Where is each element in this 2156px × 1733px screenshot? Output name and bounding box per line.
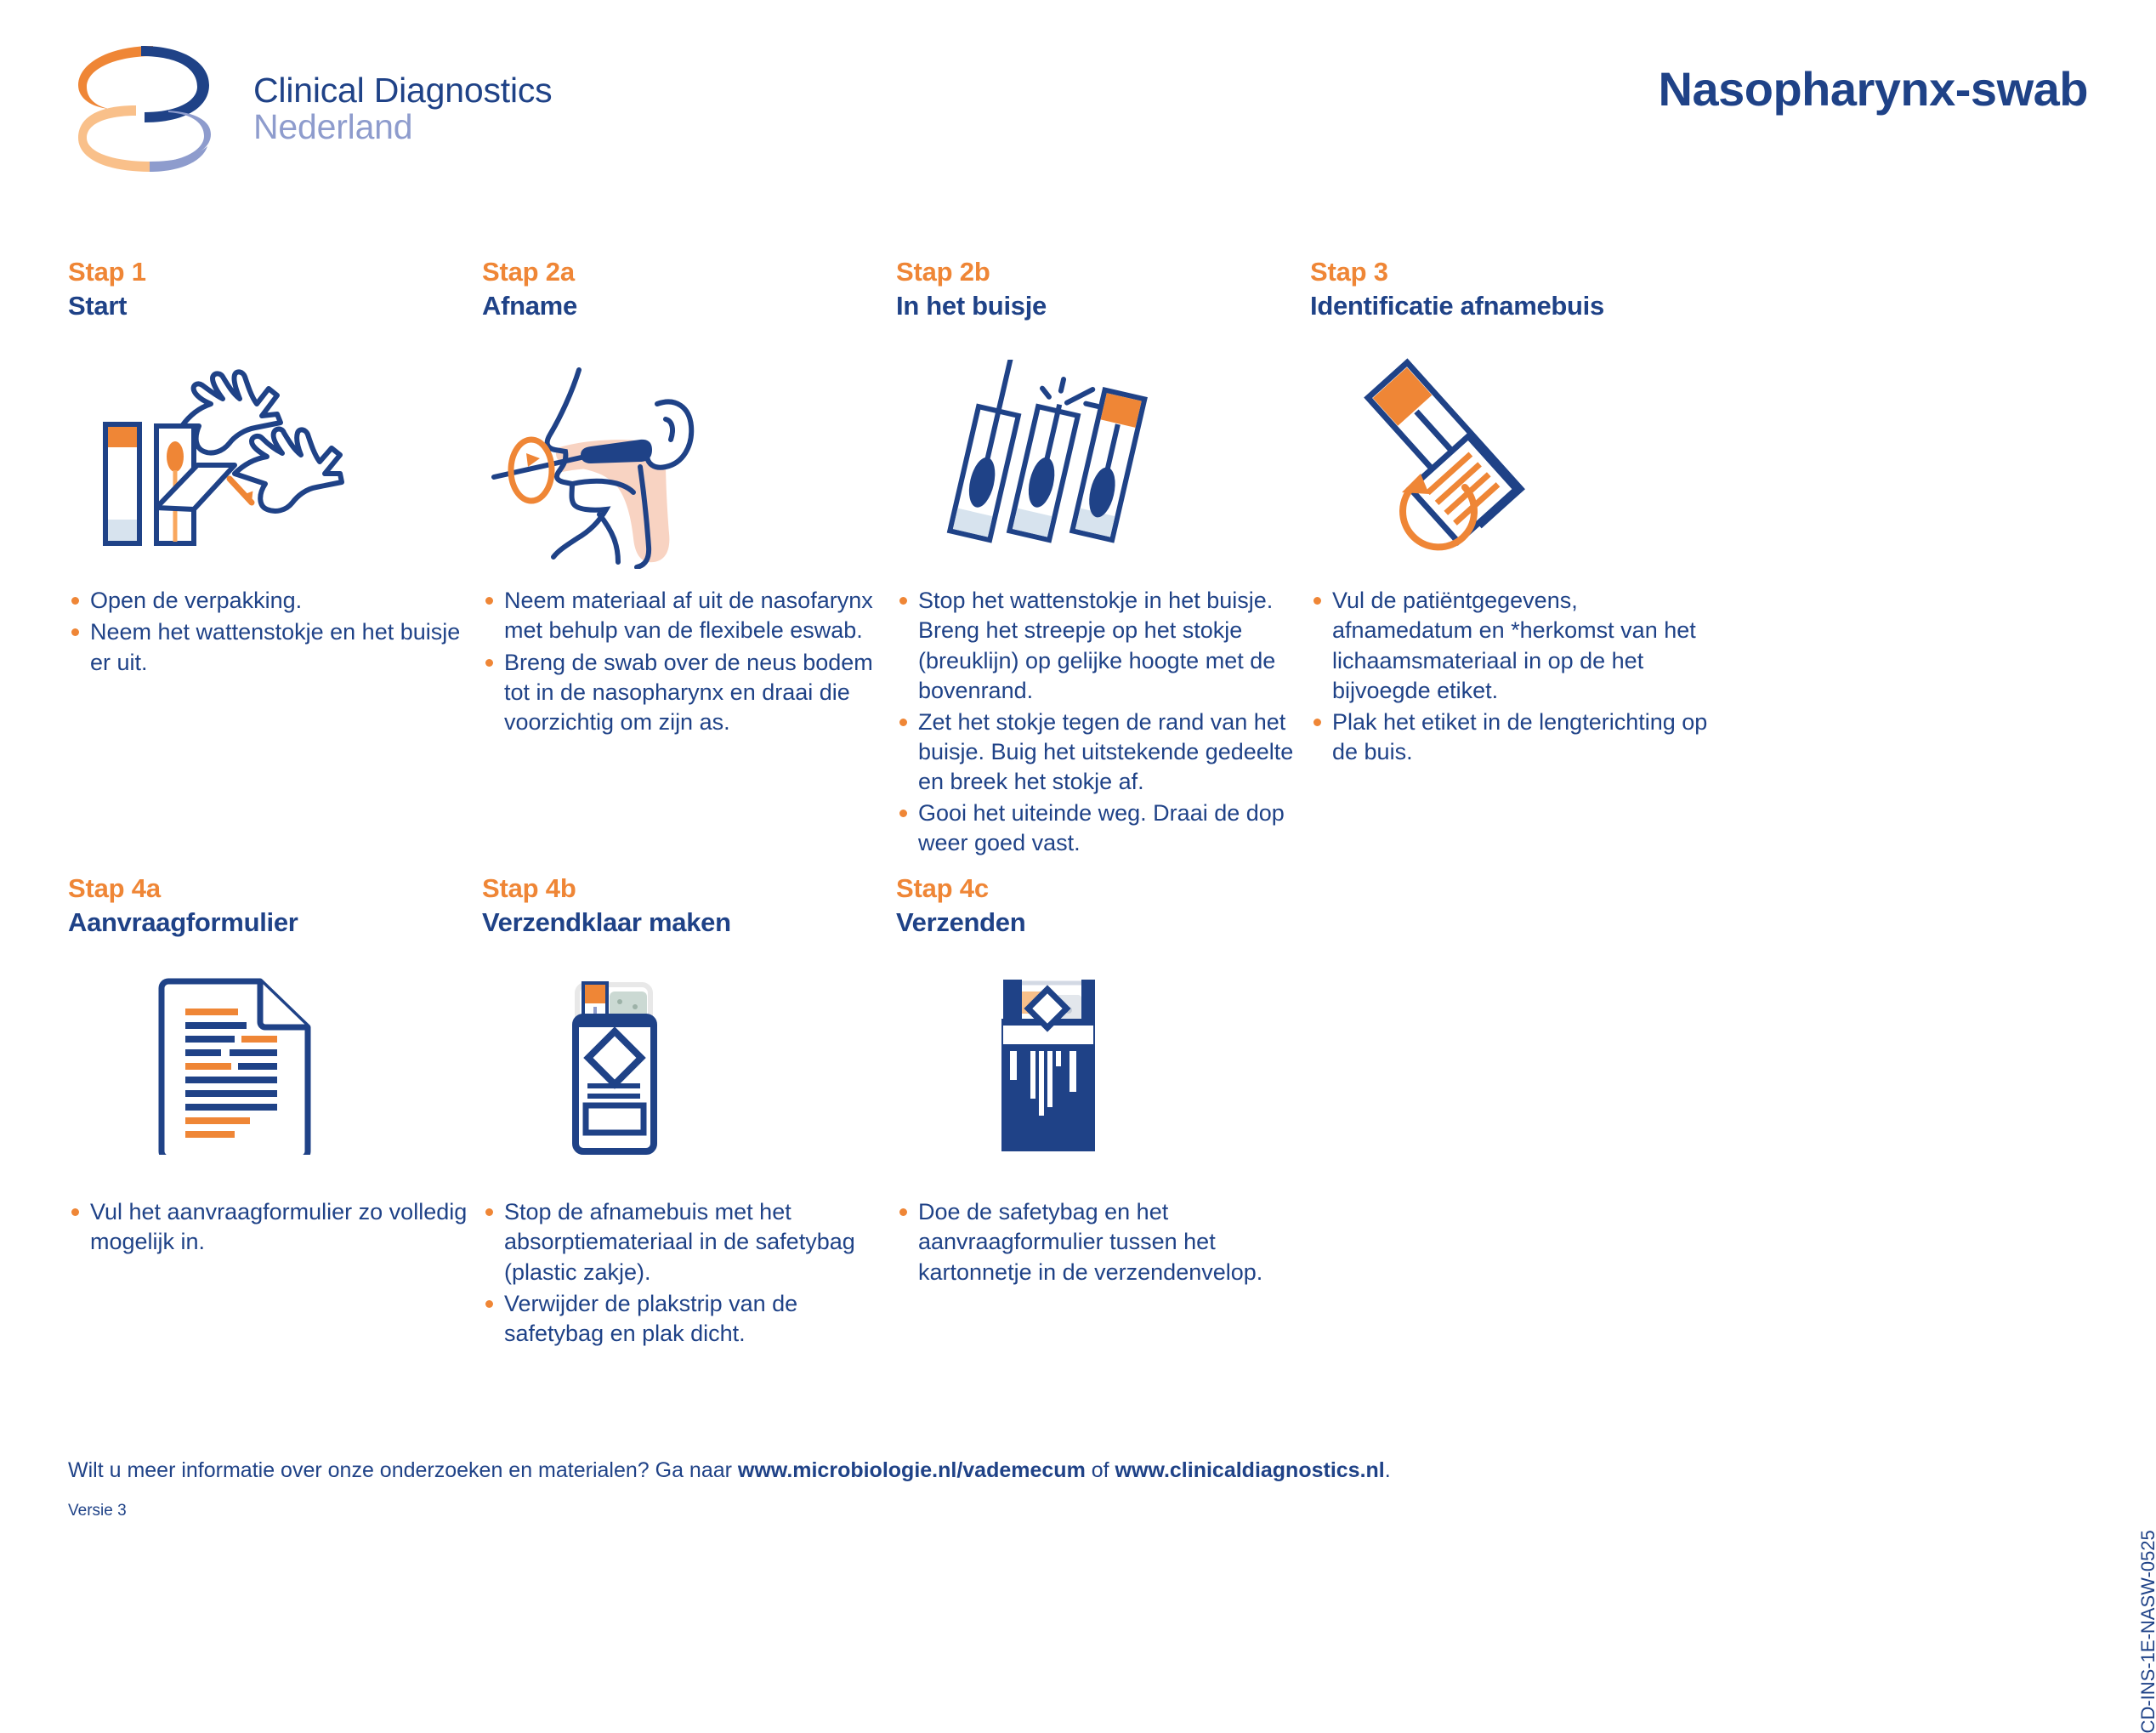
step-card-3: Stap 3 Identificatie afnamebuis	[1310, 255, 1724, 872]
footer-link-vademecum[interactable]: www.microbiologie.nl/vademecum	[738, 1458, 1086, 1482]
steps-row-2: Stap 4a Aanvraagformulier	[68, 872, 2088, 1362]
logo-line-1: Clinical Diagnostics	[253, 72, 552, 109]
bullet-item: Stop het wattenstokje in het buisje. Bre…	[896, 586, 1310, 705]
step-bullets: Vul de patiëntgegevens, afnamedatum en *…	[1310, 586, 1724, 767]
bullet-item: Stop de afnamebuis met het absorptiemate…	[482, 1197, 896, 1287]
step-title: Start	[68, 289, 482, 323]
step-title: In het buisje	[896, 289, 1310, 323]
page-header: Clinical Diagnostics Nederland Nasophary…	[68, 34, 2088, 170]
step-bullets: Stop het wattenstokje in het buisje. Bre…	[896, 586, 1310, 858]
instruction-sheet: Clinical Diagnostics Nederland Nasophary…	[0, 0, 2156, 1528]
clinical-diagnostics-nederland-logo	[68, 41, 221, 177]
version-label: Versie 3	[68, 1502, 127, 1520]
bullet-item: Plak het etiket in de lengterichting op …	[1310, 707, 1724, 767]
bullet-item: Zet het stokje tegen de rand van het bui…	[896, 707, 1310, 797]
step-card-empty	[1310, 872, 1724, 1362]
bullet-item: Verwijder de plakstrip van de safetybag …	[482, 1289, 896, 1349]
footer-text-before: Wilt u meer informatie over onze onderzo…	[68, 1458, 738, 1482]
step-number: Stap 2b	[896, 255, 1310, 289]
step-card-4c: Stap 4c Verzenden	[896, 872, 1310, 1362]
step-title: Aanvraagformulier	[68, 906, 482, 940]
step-bullets: Open de verpakking. Neem het wattenstokj…	[68, 586, 482, 677]
step-number: Stap 4c	[896, 872, 1310, 906]
bullet-item: Doe de safetybag en het aanvraagformulie…	[896, 1197, 1310, 1287]
logo-line-2: Nederland	[253, 109, 552, 145]
step-bullets: Neem materiaal af uit de nasofarynx met …	[482, 586, 896, 736]
step-title: Identificatie afnamebuis	[1310, 289, 1724, 323]
step-title: Afname	[482, 289, 896, 323]
step-bullets: Stop de afnamebuis met het absorptiemate…	[482, 1197, 896, 1348]
bullet-item: Vul het aanvraagformulier zo volledig mo…	[68, 1197, 482, 1257]
step-number: Stap 2a	[482, 255, 896, 289]
logo-wordmark: Clinical Diagnostics Nederland	[253, 72, 552, 146]
step-card-2b: Stap 2b In het buisje	[896, 255, 1310, 872]
bullet-item: Gooi het uiteinde weg. Draai de dop weer…	[896, 798, 1310, 858]
steps-row-1: Stap 1 Start	[68, 255, 2088, 872]
page-title: Nasopharynx-swab	[1659, 61, 2089, 116]
bullet-item: Vul de patiëntgegevens, afnamedatum en *…	[1310, 586, 1724, 705]
step-card-2a: Stap 2a Afname	[482, 255, 896, 872]
footer-text-middle: of	[1086, 1458, 1115, 1482]
document-code: CD-INS-1E-NASW-0525	[2137, 1530, 2156, 1733]
bullet-item: Neem het wattenstokje en het buisje er u…	[68, 617, 482, 677]
step-title: Verzendklaar maken	[482, 906, 896, 940]
step-card-4a: Stap 4a Aanvraagformulier	[68, 872, 482, 1362]
footer-link-clinicaldiagnostics[interactable]: www.clinicaldiagnostics.nl	[1115, 1458, 1385, 1482]
bullet-item: Open de verpakking.	[68, 586, 482, 616]
request-form-document-illustration	[68, 976, 482, 1172]
step-number: Stap 3	[1310, 255, 1724, 289]
step-card-1: Stap 1 Start	[68, 255, 482, 872]
step-title: Verzenden	[896, 906, 1310, 940]
step-number: Stap 4a	[68, 872, 482, 906]
tube-with-label-illustration	[1310, 353, 1724, 565]
step-card-4b: Stap 4b Verzendklaar maken	[482, 872, 896, 1362]
safetybag-with-tube-illustration	[482, 976, 896, 1172]
step-number: Stap 4b	[482, 872, 896, 906]
footer-info: Wilt u meer informatie over onze onderzo…	[68, 1457, 1391, 1485]
head-profile-nasal-swab-illustration	[482, 353, 896, 565]
package-opening-illustration	[68, 353, 482, 565]
bullet-item: Breng de swab over de neus bodem tot in …	[482, 648, 896, 737]
shipping-envelope-illustration	[896, 976, 1310, 1172]
footer-text-after: .	[1385, 1458, 1391, 1482]
step-bullets: Doe de safetybag en het aanvraagformulie…	[896, 1197, 1310, 1287]
bullet-item: Neem materiaal af uit de nasofarynx met …	[482, 586, 896, 645]
step-bullets: Vul het aanvraagformulier zo volledig mo…	[68, 1197, 482, 1257]
three-tubes-break-swab-illustration	[896, 353, 1310, 565]
step-number: Stap 1	[68, 255, 482, 289]
logo-block: Clinical Diagnostics Nederland	[68, 41, 552, 177]
